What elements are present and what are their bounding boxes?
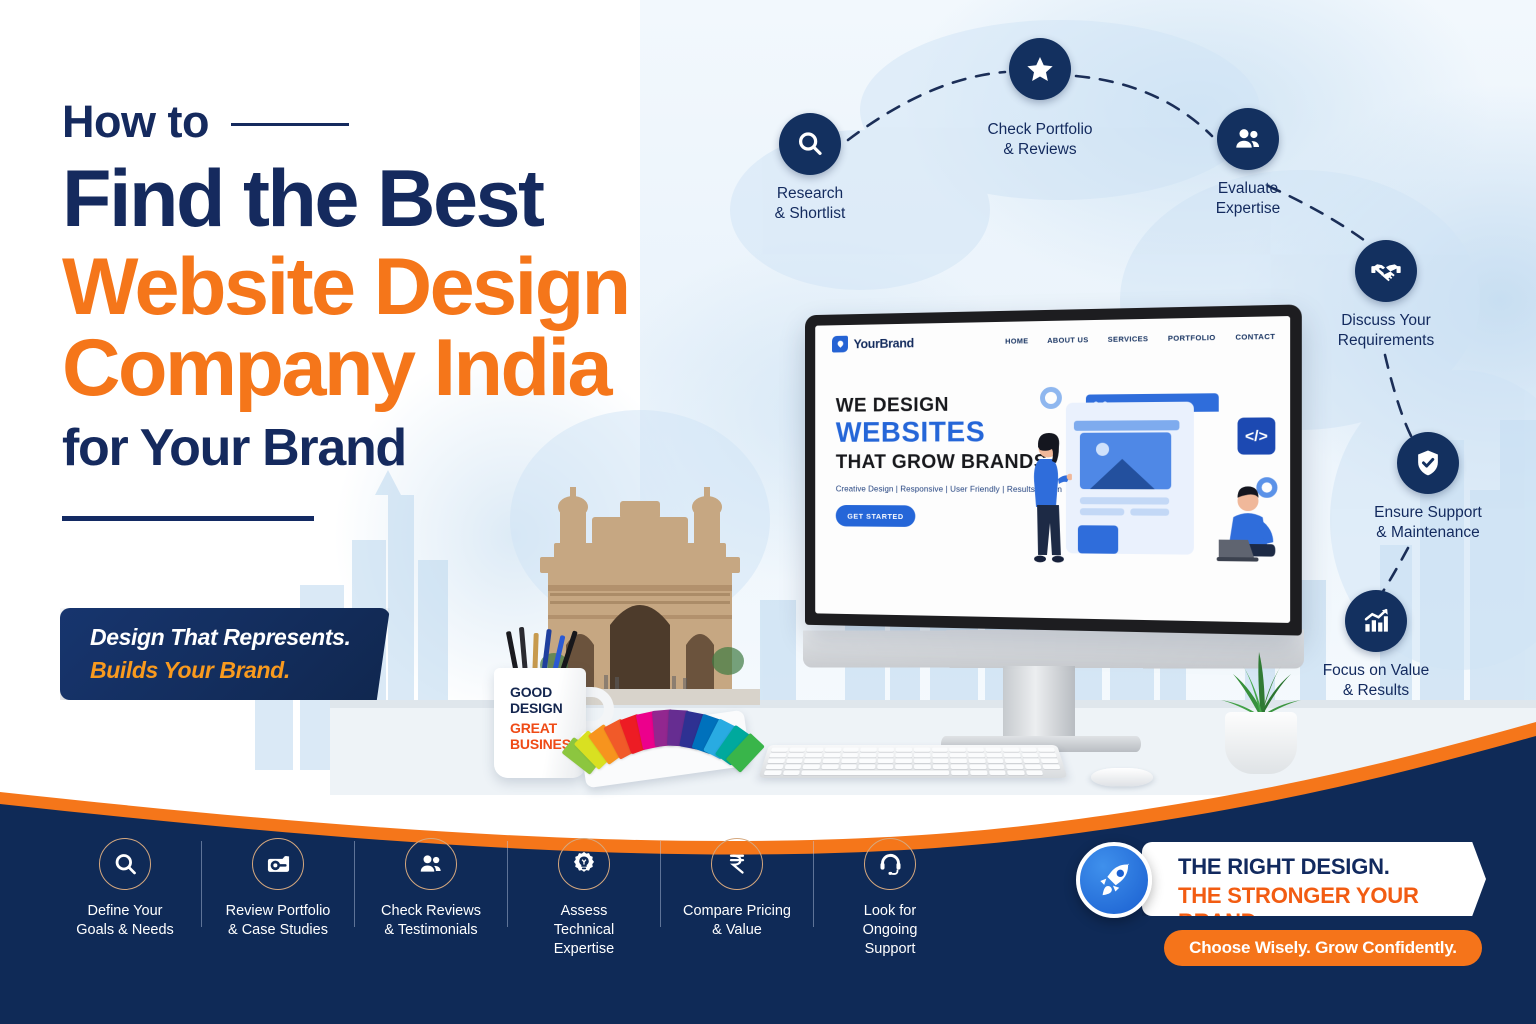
bottom-step-label-1: Check Reviews — [376, 902, 486, 921]
eyebrow-text: How to — [62, 96, 209, 148]
cta-plate: THE RIGHT DESIGN. THE STRONGER YOUR BRAN… — [1142, 842, 1486, 916]
mockup-bar-1 — [1074, 420, 1180, 431]
bottom-step-divider — [507, 841, 508, 927]
bottom-step-divider — [201, 841, 202, 927]
bottom-step-label-1: Look for Ongoing — [835, 902, 945, 940]
bottom-step-ongoing-support[interactable]: Look for Ongoing Support — [835, 838, 945, 959]
headline-line-1: Find the Best — [62, 158, 762, 241]
monitor: YourBrand HOME ABOUT US SERVICES PORTFOL… — [805, 304, 1302, 635]
infographic-canvas: How to Find the Best Website Design Comp… — [0, 0, 1536, 1024]
magnifier-icon — [779, 113, 841, 175]
bottom-step-label-2: & Value — [682, 921, 792, 940]
gear-bulb-icon — [558, 838, 610, 890]
bottom-step-label-2: Goals & Needs — [70, 921, 180, 940]
cta-line-1: THE RIGHT DESIGN. — [1178, 854, 1486, 880]
bottom-step-divider — [813, 841, 814, 927]
eyebrow-row: How to — [62, 96, 762, 148]
mockup-brand-name: YourBrand — [854, 335, 914, 351]
flow-label-evaluate-2: Expertise — [1180, 199, 1316, 218]
flow-label-portfolio-1: Check Portfolio — [972, 120, 1108, 139]
headline-line-2: Website Design — [62, 245, 762, 331]
portfolio-icon — [252, 838, 304, 890]
nav-item-services[interactable]: SERVICES — [1108, 334, 1149, 344]
bottom-step-review-portfolio[interactable]: Review Portfolio & Case Studies — [223, 838, 333, 940]
handshake-icon — [1355, 240, 1417, 302]
headset-icon — [864, 838, 916, 890]
mockup-hero-line-3: THAT GROW BRANDS — [836, 451, 1048, 474]
bottom-step-label-2: & Case Studies — [223, 921, 333, 940]
people-icon — [405, 838, 457, 890]
brand-logo-icon — [832, 335, 848, 352]
plant-leaves — [1207, 630, 1315, 720]
mockup-navbar: YourBrand HOME ABOUT US SERVICES PORTFOL… — [815, 316, 1290, 362]
bottom-step-label-2: & Testimonials — [376, 921, 486, 940]
flow-label-research-1: Research — [742, 184, 878, 203]
code-brackets-icon: </> — [1238, 417, 1276, 454]
bottom-step-label-1: Compare Pricing — [682, 902, 792, 921]
flow-node-evaluate[interactable]: Evaluate Expertise — [1180, 108, 1316, 219]
tagline-line-1: Design That Represents. — [90, 624, 390, 651]
mockup-nav-menu: HOME ABOUT US SERVICES PORTFOLIO CONTACT — [1005, 331, 1275, 345]
monitor-screen: YourBrand HOME ABOUT US SERVICES PORTFOL… — [815, 316, 1290, 623]
bottom-step-label-1: Review Portfolio — [223, 902, 333, 921]
bottom-step-assess-technical[interactable]: Assess Technical Expertise — [529, 838, 639, 959]
cta-pill-button[interactable]: Choose Wisely. Grow Confidently. — [1164, 930, 1482, 966]
mockup-bar-5 — [1078, 525, 1118, 554]
mug-text-good-design: GOODDESIGN — [510, 684, 562, 716]
bottom-step-label-1: Define Your — [70, 902, 180, 921]
website-mockup: YourBrand HOME ABOUT US SERVICES PORTFOL… — [815, 316, 1290, 623]
nav-item-home[interactable]: HOME — [1005, 336, 1028, 345]
person-man-illustration — [1210, 482, 1285, 569]
mockup-hero-line-1: WE DESIGN — [836, 394, 949, 418]
people-icon — [1217, 108, 1279, 170]
flow-label-portfolio-2: & Reviews — [972, 140, 1108, 159]
shield-check-icon — [1397, 432, 1459, 494]
bottom-step-label-2: Expertise — [529, 940, 639, 959]
headline-line-4: for Your Brand — [62, 418, 762, 478]
gear-icon-small — [1040, 387, 1062, 409]
mockup-bar-4 — [1130, 508, 1169, 515]
nav-item-portfolio[interactable]: PORTFOLIO — [1168, 332, 1216, 342]
nav-item-about[interactable]: ABOUT US — [1047, 335, 1088, 345]
headline-block: How to Find the Best Website Design Comp… — [62, 96, 762, 521]
bottom-step-define-goals[interactable]: Define Your Goals & Needs — [70, 838, 180, 940]
magnifier-icon — [99, 838, 151, 890]
cta-block: THE RIGHT DESIGN. THE STRONGER YOUR BRAN… — [1068, 838, 1488, 966]
mockup-get-started-button[interactable]: GET STARTED — [836, 505, 916, 527]
person-woman-illustration — [1028, 431, 1072, 563]
bottom-step-compare-pricing[interactable]: Compare Pricing & Value — [682, 838, 792, 940]
flow-node-portfolio[interactable]: Check Portfolio & Reviews — [972, 38, 1108, 160]
bottom-step-check-reviews[interactable]: Check Reviews & Testimonials — [376, 838, 486, 940]
mockup-illustration: </> — [1028, 370, 1284, 571]
mockup-bar-3 — [1080, 508, 1124, 515]
bottom-step-label-2: Support — [835, 940, 945, 959]
tagline-line-2: Builds Your Brand. — [90, 657, 390, 684]
bottom-step-divider — [660, 841, 661, 927]
eyebrow-rule — [231, 123, 349, 126]
tagline-badge: Design That Represents. Builds Your Bran… — [60, 608, 390, 700]
flow-label-evaluate-1: Evaluate — [1180, 179, 1316, 198]
rupee-icon — [711, 838, 763, 890]
flow-node-research[interactable]: Research & Shortlist — [742, 113, 878, 224]
bottom-step-label-1: Assess Technical — [529, 902, 639, 940]
cta-line-2: THE STRONGER YOUR BRAND. — [1178, 883, 1486, 935]
star-icon — [1009, 38, 1071, 100]
bottom-step-divider — [354, 841, 355, 927]
nav-item-contact[interactable]: CONTACT — [1235, 331, 1275, 341]
mockup-image-placeholder — [1080, 432, 1171, 489]
cta-pill-label: Choose Wisely. Grow Confidently. — [1189, 938, 1457, 958]
mockup-bar-2 — [1080, 497, 1169, 504]
flow-label-research-2: & Shortlist — [742, 204, 878, 223]
headline-line-3: Company India — [62, 326, 762, 412]
headline-underline — [62, 516, 314, 521]
mockup-hero-line-2: WEBSITES — [836, 416, 985, 449]
bottom-steps-list: Define Your Goals & Needs Review Portfol… — [70, 838, 945, 959]
rocket-icon — [1076, 842, 1152, 918]
